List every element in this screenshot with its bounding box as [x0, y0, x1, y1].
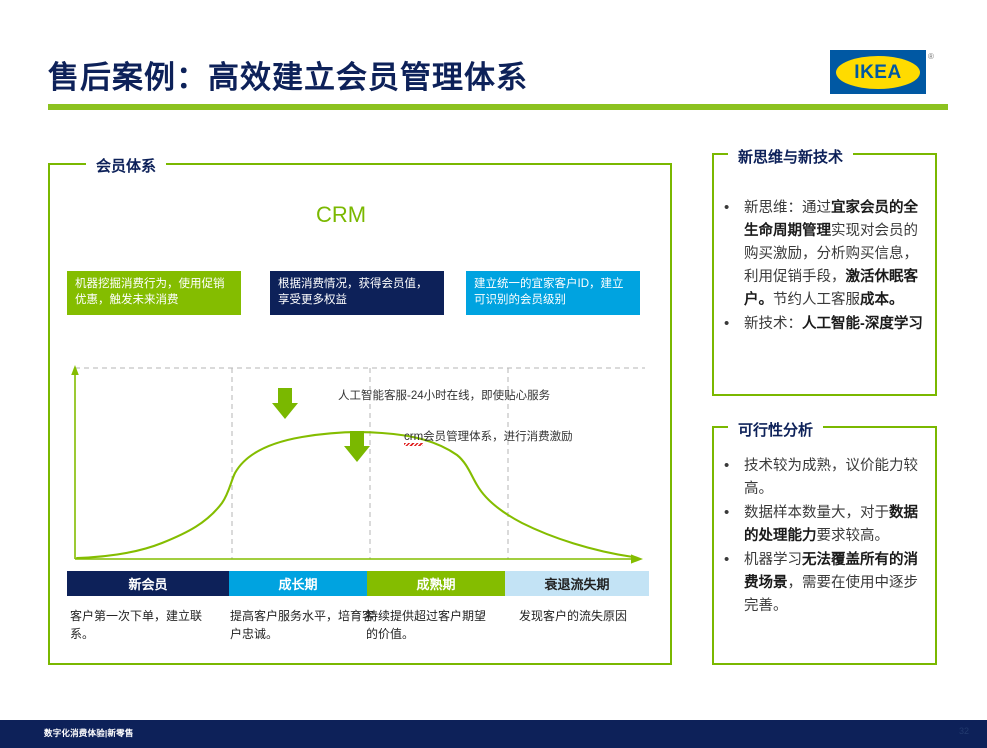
bullet-item: 数据样本数量大，对于数据的处理能力要求较高。	[718, 502, 932, 548]
ikea-logo-ellipse: IKEA	[836, 56, 920, 89]
feature-card: 建立统一的宜家客户ID，建立可识别的会员级别	[466, 271, 640, 315]
member-system-panel-title: 会员体系	[86, 155, 166, 176]
page-title: 售后案例：高效建立会员管理体系	[48, 52, 808, 97]
ikea-wordmark: IKEA	[854, 63, 901, 82]
chart-annotation-crm-system: crm会员管理体系，进行消费激励	[404, 428, 573, 444]
footer-label: 数字化消费体验|新零售	[44, 727, 134, 739]
footer-bar: 数字化消费体验|新零售 32	[0, 720, 987, 748]
feasibility-bullet-list: 技术较为成熟，议价能力较高。数据样本数量大，对于数据的处理能力要求较高。机器学习…	[718, 455, 932, 619]
chart-x-axis-arrow	[631, 554, 643, 563]
registered-trademark-icon: ®	[928, 52, 934, 61]
new-thinking-bullet-list: 新思维：通过宜家会员的全生命周期管理实现对会员的购买激励，分析购买信息，利用促销…	[718, 197, 932, 337]
feature-card: 机器挖掘消费行为，使用促销优惠，触发未来消费	[67, 271, 241, 315]
stage-description: 客户第一次下单，建立联系。	[70, 607, 220, 643]
bullet-item: 技术较为成熟，议价能力较高。	[718, 455, 932, 501]
crm-label: CRM	[316, 202, 366, 228]
title-underline-rule	[48, 104, 948, 110]
new-thinking-panel-title: 新思维与新技术	[728, 146, 853, 167]
page-number: 32	[959, 726, 969, 736]
crm-misspelled-word: crm	[404, 431, 423, 443]
stage-description: 发现客户的流失原因	[519, 607, 654, 625]
stage-description: 提高客户服务水平，培育客户忠诚。	[230, 607, 380, 643]
stage-description: 持续提供超过客户期望的价值。	[366, 607, 496, 643]
feature-card: 根据消费情况，获得会员值，享受更多权益	[270, 271, 444, 315]
crm-annotation-text: 会员管理体系，进行消费激励	[423, 431, 573, 443]
bullet-item: 机器学习无法覆盖所有的消费场景，需要在使用中逐步完善。	[718, 549, 932, 618]
bullet-item: 新思维：通过宜家会员的全生命周期管理实现对会员的购买激励，分析购买信息，利用促销…	[718, 197, 932, 312]
annotation-arrow-2	[344, 431, 370, 462]
stage-segment-new-member: 新会员	[67, 571, 229, 596]
stage-segment-mature: 成熟期	[367, 571, 505, 596]
chart-y-axis-arrow	[71, 365, 79, 375]
chart-annotation-ai-service: 人工智能客服-24小时在线，即使贴心服务	[338, 387, 550, 403]
stage-segment-decline: 衰退流失期	[505, 571, 649, 596]
annotation-arrow-1	[272, 388, 298, 419]
feasibility-panel-title: 可行性分析	[728, 419, 823, 440]
ikea-logo: IKEA	[830, 50, 926, 94]
bullet-item: 新技术：人工智能-深度学习	[718, 313, 932, 336]
stage-segment-growth: 成长期	[229, 571, 367, 596]
